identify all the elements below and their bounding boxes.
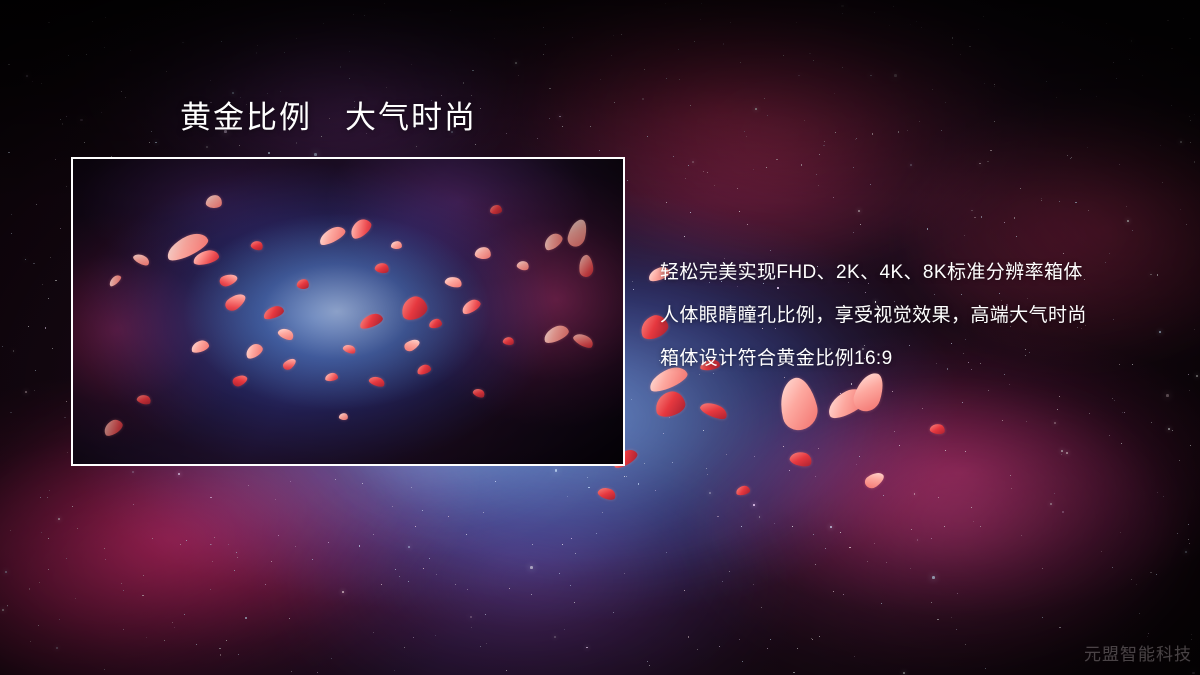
picture-vignette bbox=[73, 159, 623, 464]
page-title: 黄金比例 大气时尚 bbox=[180, 99, 477, 138]
body-line-3: 箱体设计符合黄金比例16:9 bbox=[660, 337, 1160, 380]
slide-canvas: 黄金比例 大气时尚 轻松完美实现FHD、2K、4K、8K标准分辨率箱体 人体眼睛… bbox=[0, 0, 1200, 675]
picture-frame bbox=[71, 157, 625, 466]
body-copy: 轻松完美实现FHD、2K、4K、8K标准分辨率箱体 人体眼睛瞳孔比例，享受视觉效… bbox=[660, 251, 1160, 380]
watermark: 元盟智能科技 bbox=[1084, 640, 1192, 665]
body-line-1: 轻松完美实现FHD、2K、4K、8K标准分辨率箱体 bbox=[660, 251, 1160, 294]
body-line-2: 人体眼睛瞳孔比例，享受视觉效果，高端大气时尚 bbox=[660, 294, 1160, 337]
